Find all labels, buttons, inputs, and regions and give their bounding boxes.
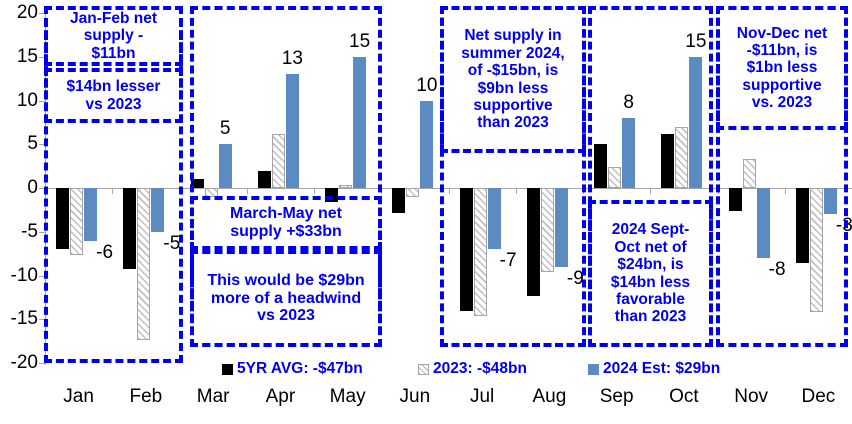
x-axis-label-mar: Mar [197, 386, 230, 408]
bar-jun-y2023 [406, 188, 419, 197]
legend-item-5yr-avg[interactable]: 5YR AVG: -$47bn [222, 360, 363, 378]
y-axis-tick-label: 20 [17, 2, 38, 24]
x-axis-label-apr: Apr [266, 386, 296, 408]
y-axis-tick-label: -10 [11, 265, 38, 287]
chart-root: 20151050-5-10-15-20 -6-55131510-7-9815-8… [0, 0, 852, 424]
y-axis-tick-label: -5 [21, 221, 38, 243]
annotation-sept-oct-net: 2024 Sept-Oct net of$24bn, is$14bn lessf… [588, 200, 713, 347]
legend-swatch-5yr-avg-icon [222, 364, 233, 375]
x-axis-label-feb: Feb [130, 386, 163, 408]
legend-item-2023[interactable]: 2023: -$48bn [418, 360, 527, 378]
annotation-summer-net: Net supply insummer 2024,of -$15bn, is$9… [440, 6, 586, 153]
x-axis-label-jul: Jul [470, 386, 494, 408]
legend-swatch-2024-est-icon [588, 364, 599, 375]
annotation-mar-may-net: March-May netsupply +$33bn [190, 196, 382, 250]
annotation-text: This would be $29bnmore of a headwindvs … [207, 272, 364, 326]
legend-label-2023: 2023: -$48bn [433, 360, 527, 378]
y-axis-tick-label: 10 [17, 90, 38, 112]
legend-label-5yr-avg: 5YR AVG: -$47bn [237, 360, 363, 378]
x-axis-label-may: May [330, 386, 366, 408]
data-label-jun: 10 [416, 75, 437, 97]
x-axis-label-dec: Dec [801, 386, 835, 408]
x-axis-label-sep: Sep [600, 386, 634, 408]
bar-jun-avg [392, 188, 405, 213]
annotation-mar-may-headwind: This would be $29bnmore of a headwindvs … [190, 250, 382, 347]
annotation-text: March-May netsupply +$33bn [230, 205, 342, 241]
x-axis-label-aug: Aug [532, 386, 566, 408]
annotation-jan-feb-outer [44, 6, 183, 363]
x-axis-label-jun: Jun [400, 386, 431, 408]
annotation-nov-dec-net: Nov-Dec net-$11bn, is$1bn lesssupportive… [716, 6, 848, 130]
annotation-text: Net supply insummer 2024,of -$15bn, is$9… [461, 27, 564, 131]
x-axis-label-jan: Jan [63, 386, 94, 408]
x-axis-label-nov: Nov [734, 386, 768, 408]
legend-item-2024-est[interactable]: 2024 Est: $29bn [588, 360, 720, 378]
y-axis-tick-label: 5 [27, 133, 38, 155]
legend-label-2024-est: 2024 Est: $29bn [603, 360, 720, 378]
y-axis-tick-label: -15 [11, 308, 38, 330]
bar-jun-est [420, 101, 433, 189]
annotation-text: 2024 Sept-Oct net of$24bn, is$14bn lessf… [611, 221, 690, 325]
y-axis-tick-label: 15 [17, 46, 38, 68]
legend-swatch-2023-icon [418, 364, 429, 375]
x-axis-label-oct: Oct [669, 386, 699, 408]
y-axis-tick-label: 0 [27, 177, 38, 199]
annotation-text: Nov-Dec net-$11bn, is$1bn lesssupportive… [737, 25, 827, 112]
legend: 5YR AVG: -$47bn 2023: -$48bn 2024 Est: $… [0, 358, 852, 384]
